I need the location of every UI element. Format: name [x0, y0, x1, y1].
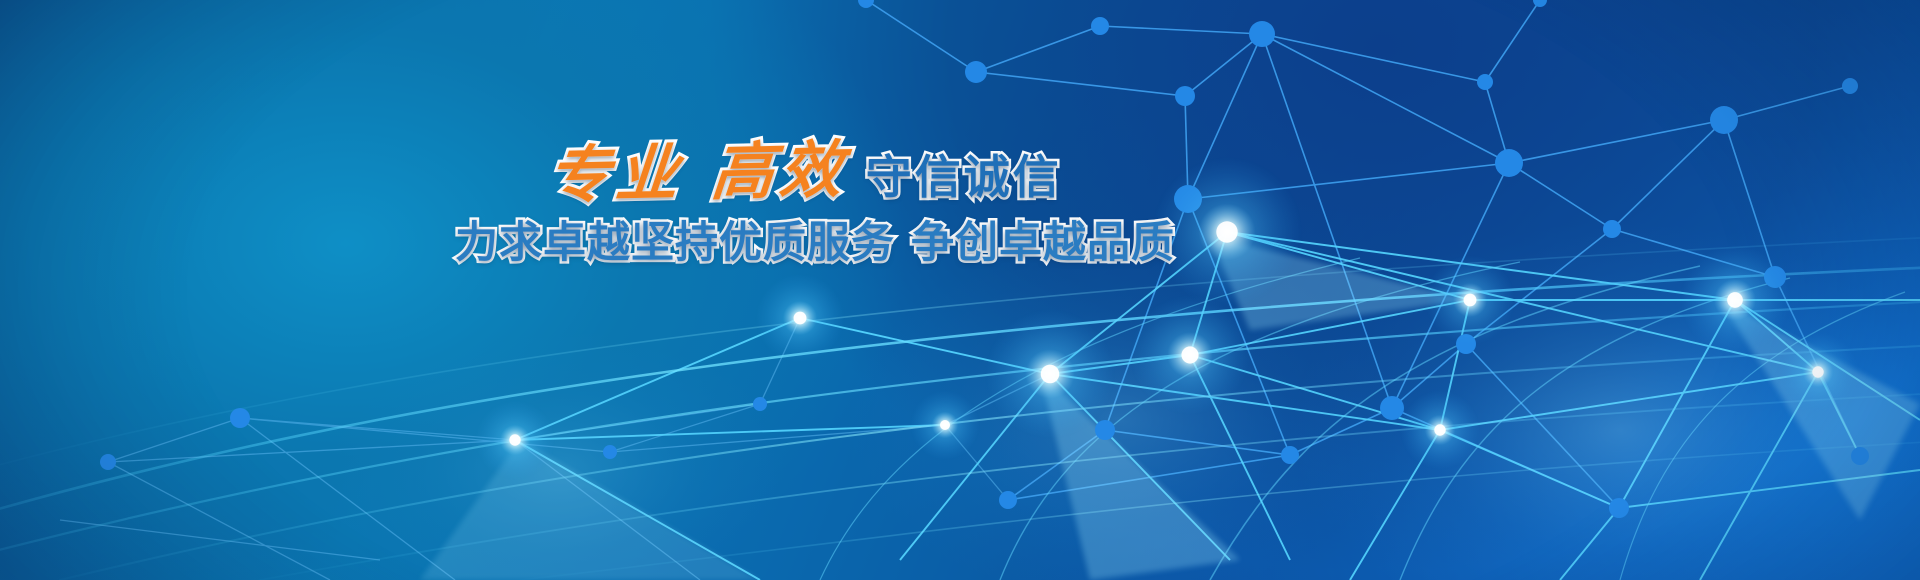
- headline-orange-text: 专业 高效: [545, 139, 851, 209]
- subheadline-text: 力求卓越坚持优质服务 争创卓越品质: [455, 220, 1155, 267]
- promo-banner: 专业 高效 守信诚信 力求卓越坚持优质服务 争创卓越品质: [0, 0, 1920, 580]
- headline-row: 专业 高效 守信诚信: [455, 132, 1155, 206]
- background-vignette: [0, 0, 1920, 580]
- headline-white-text: 守信诚信: [866, 154, 1062, 206]
- banner-text-block: 专业 高效 守信诚信 力求卓越坚持优质服务 争创卓越品质: [455, 132, 1155, 267]
